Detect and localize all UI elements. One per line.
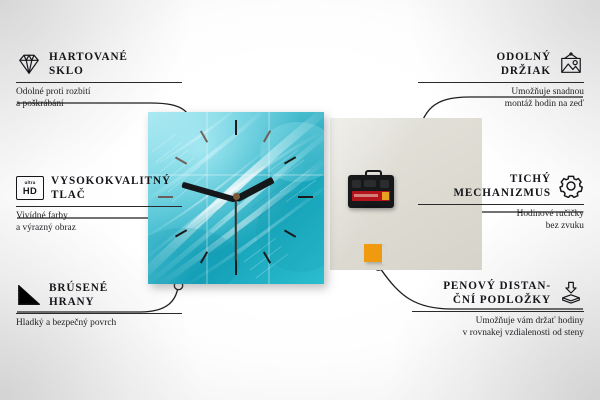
feature-high-quality-print: ultraHD VYSOKOKVALITNÝ TLAČ Vivídné farb… <box>16 174 182 234</box>
feature-durable-hanger: ODOLNÝ DRŽIAK Umožňuje snadnou montáž ho… <box>418 50 584 110</box>
feature-divider <box>418 204 584 205</box>
feature-description: Vivídné farby a výrazný obraz <box>16 211 182 234</box>
feature-description: Hladký a bezpečný povrch <box>16 318 182 330</box>
feature-divider <box>412 311 584 312</box>
mechanism-knob-left <box>352 180 361 188</box>
clock-mechanism <box>348 170 394 208</box>
tick-6 <box>235 260 237 275</box>
mechanism-shadow <box>350 204 394 209</box>
feature-foam-spacers: PENOVÝ DISTAN- ČNÍ PODLOŽKY Umožňuje vám… <box>412 279 584 339</box>
feature-divider <box>16 206 182 207</box>
feature-title: HARTOVANÉ SKLO <box>49 50 128 78</box>
feature-divider <box>16 82 182 83</box>
tick-12 <box>235 120 237 135</box>
feature-silent-mechanism: TICHÝ MECHANIZMUS Hodinové ručičky bez z… <box>418 172 584 232</box>
feature-title: TICHÝ MECHANIZMUS <box>453 172 551 200</box>
mechanism-knob-right <box>380 180 389 188</box>
feature-description: Odolné proti rozbití a poškrábání <box>16 87 182 110</box>
mechanism-knob-center <box>364 180 376 187</box>
feature-title: BRÚSENÉ HRANY <box>49 281 108 309</box>
diamond-icon <box>16 52 42 76</box>
picture-frame-hanger-icon <box>558 52 584 76</box>
gear-icon <box>558 174 584 198</box>
feature-title: PENOVÝ DISTAN- ČNÍ PODLOŽKY <box>443 279 551 307</box>
feature-divider <box>418 82 584 83</box>
feature-description: Umožňuje snadnou montáž hodin na zeď <box>418 87 584 110</box>
feature-polished-edges: BRÚSENÉ HRANY Hladký a bezpečný povrch <box>16 281 182 330</box>
feature-description: Hodinové ručičky bez zvuku <box>418 209 584 232</box>
feature-divider <box>16 313 182 314</box>
tick-3 <box>298 196 313 198</box>
feature-title: VYSOKOKVALITNÝ TLAČ <box>51 174 171 202</box>
feature-hardened-glass: HARTOVANÉ SKLO Odolné proti rozbití a po… <box>16 50 182 110</box>
feature-title: ODOLNÝ DRŽIAK <box>496 50 551 78</box>
ultra-hd-icon: ultraHD <box>16 176 44 200</box>
infographic-canvas: HARTOVANÉ SKLO Odolné proti rozbití a po… <box>0 0 600 400</box>
clock-second-hand <box>235 199 237 261</box>
foam-spacer-pad <box>364 244 382 262</box>
beveled-edge-icon <box>16 283 42 307</box>
clock-center-pin <box>233 193 240 200</box>
feature-description: Umožňuje vám držať hodiny v rovnakej vzd… <box>412 316 584 339</box>
stacked-pads-arrow-icon <box>558 281 584 305</box>
mechanism-battery <box>352 191 390 201</box>
